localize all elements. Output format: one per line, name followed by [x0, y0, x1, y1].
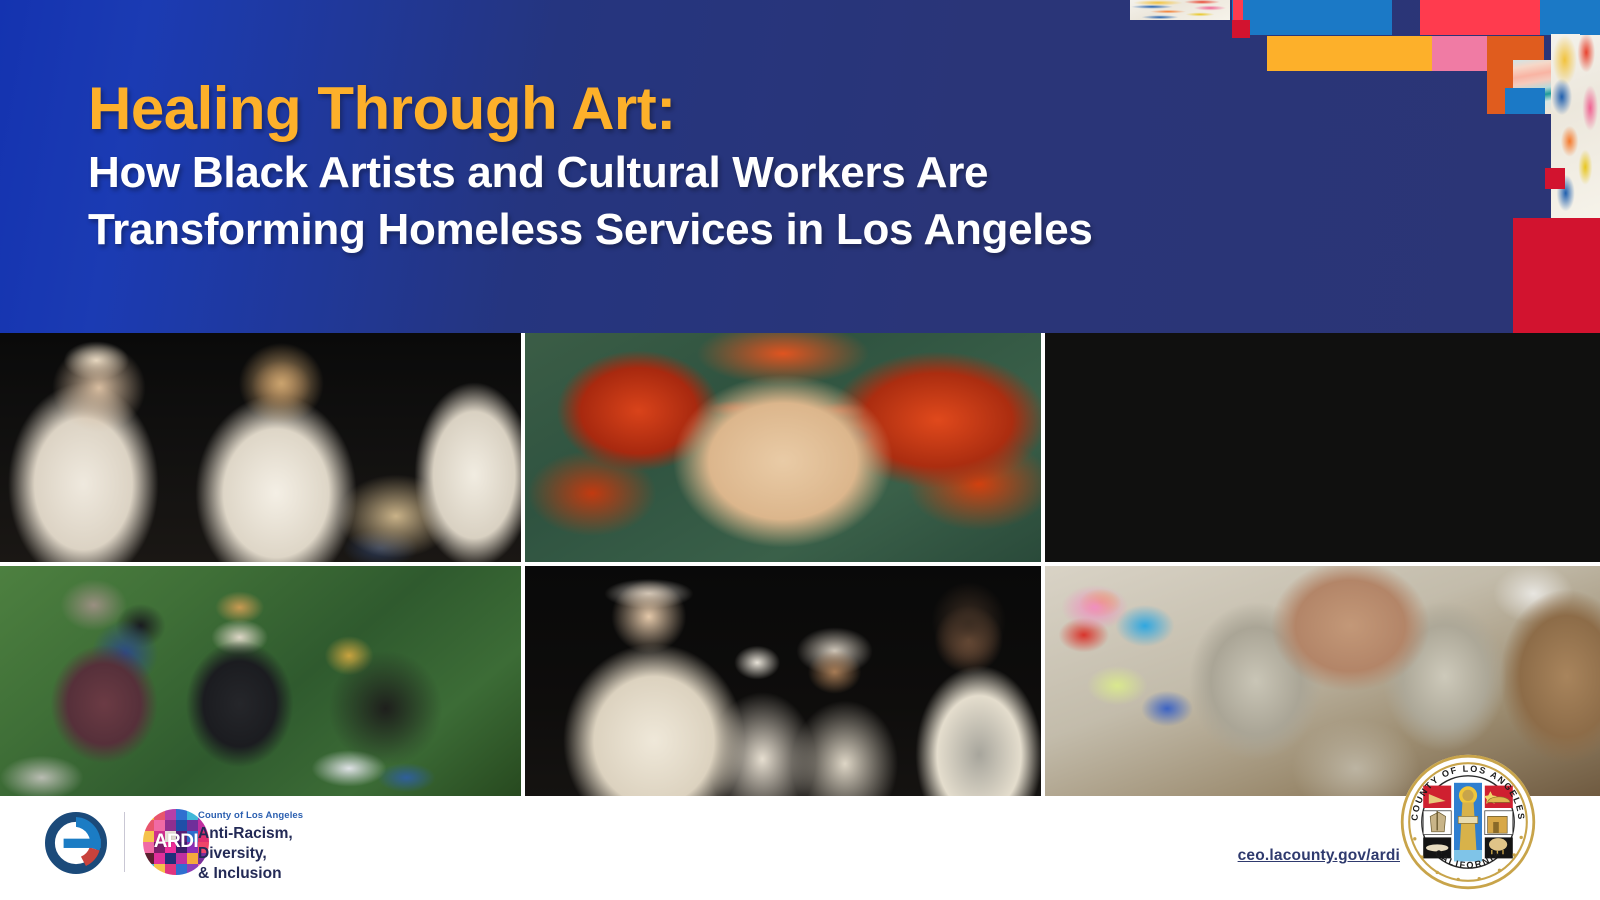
photo-theater-ensemble [525, 566, 1041, 796]
decor-blue-block-1 [1232, 0, 1392, 35]
photo-cell-green-figures [0, 566, 521, 796]
decor-crimson-tall [1513, 218, 1600, 333]
ardi-name-line-3: & Inclusion [198, 864, 428, 884]
decor-amber-bar [1267, 36, 1432, 71]
decor-art-strip-photo [1130, 0, 1230, 20]
decor-blue-block-3 [1505, 88, 1545, 114]
title-block: Healing Through Art: How Black Artists a… [88, 78, 1388, 258]
photo-collage [0, 333, 1600, 796]
photo-painted-portrait-red-hair [525, 333, 1041, 562]
promotional-graphic: Healing Through Art: How Black Artists a… [0, 0, 1600, 900]
decor-art-frame-a [1551, 34, 1600, 219]
decor-crimson-chip-2 [1545, 168, 1565, 189]
ardi-name-line-2: Diversity, [198, 844, 428, 864]
website-url-link[interactable]: ceo.lacounty.gov/ardi [1238, 847, 1400, 865]
page-subtitle-line-2: Transforming Homeless Services in Los An… [88, 202, 1388, 258]
ceo-e-logo-icon [45, 812, 107, 874]
ardi-eyebrow-text: County of Los Angeles [198, 810, 428, 821]
photo-painting-green-figures [0, 566, 521, 796]
photo-theater-performers-white-coats [0, 333, 521, 562]
ardi-wordmark: County of Los Angeles Anti-Racism, Diver… [198, 810, 428, 883]
photo-cell-painted-portrait [525, 333, 1041, 562]
decor-crimson-chip [1232, 20, 1250, 38]
header-banner: Healing Through Art: How Black Artists a… [0, 0, 1600, 333]
photo-cell-theater-performers [0, 333, 521, 562]
la-county-seal-icon: COUNTY OF LOS ANGELES CALIFORNIA [1398, 752, 1538, 892]
page-subtitle-line-1: How Black Artists and Cultural Workers A… [88, 145, 1388, 201]
logo-divider [124, 812, 125, 872]
photo-painting-fence-bicycle [1045, 333, 1600, 562]
decor-blue-block-4 [1580, 0, 1600, 35]
ardi-name-line-1: Anti-Racism, [198, 824, 428, 844]
photo-cell-fence-painting [1045, 333, 1600, 562]
decor-pink-block [1432, 36, 1487, 71]
photo-cell-theater-ensemble [525, 566, 1041, 796]
page-title: Healing Through Art: [88, 78, 1388, 139]
decor-coral-block [1420, 0, 1540, 35]
